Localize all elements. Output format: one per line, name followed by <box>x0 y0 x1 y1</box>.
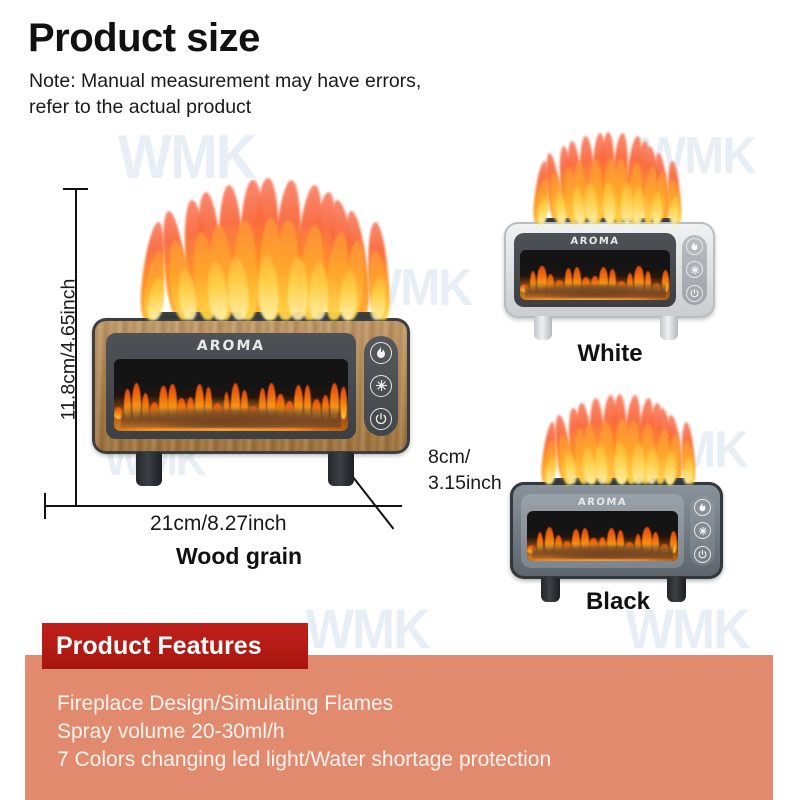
log-bed <box>121 404 341 428</box>
leg-right <box>328 452 354 486</box>
features-list: Fireplace Design/Simulating Flames Spray… <box>57 690 551 774</box>
power-icon[interactable] <box>686 285 703 302</box>
list-item: Fireplace Design/Simulating Flames <box>57 690 551 718</box>
power-icon[interactable] <box>694 546 711 563</box>
features-heading: Product Features <box>56 632 262 661</box>
mist-icon[interactable] <box>686 261 703 278</box>
flame-icon[interactable] <box>694 499 711 516</box>
flame-graphic-white <box>538 132 680 224</box>
measurement-note: Note: Manual measurement may have errors… <box>29 68 549 120</box>
leg-right <box>660 316 678 340</box>
watermark: WMK <box>112 122 261 193</box>
height-dimension-label: 11.8cm/4.65inch <box>58 255 81 445</box>
flame-window-white <box>520 250 670 300</box>
leg-left <box>534 316 552 340</box>
depth-line-1: 8cm/ <box>428 444 502 470</box>
flame-window-black <box>527 511 678 561</box>
leg-left <box>136 452 162 486</box>
depth-line-2: 3.15inch <box>428 470 502 496</box>
list-item: 7 Colors changing led light/Water shorta… <box>57 746 551 774</box>
features-heading-box: Product Features <box>42 623 308 669</box>
height-dimension-tick <box>63 188 88 190</box>
brand-text-white: AROMA <box>514 236 677 247</box>
flame-graphic-black <box>546 394 694 484</box>
width-dimension-tick <box>44 493 46 519</box>
mist-icon[interactable] <box>370 375 392 397</box>
log-bed <box>532 542 674 559</box>
list-item: Spray volume 20-30ml/h <box>57 718 551 746</box>
flame-graphic-main <box>148 178 388 320</box>
flame-icon[interactable] <box>686 238 703 255</box>
product-infographic: WMK WMK WMK WMK WMK WMK WMK Product size… <box>0 0 800 800</box>
watermark: WMK <box>352 258 476 318</box>
product-wood-grain: AROMA <box>92 318 410 454</box>
control-panel-black[interactable] <box>690 496 715 566</box>
note-line-1: Note: Manual measurement may have errors… <box>29 68 549 94</box>
flame-window-wood <box>114 359 348 431</box>
mist-icon[interactable] <box>694 522 711 539</box>
white-variant-label: White <box>540 340 680 368</box>
depth-dimension-label: 8cm/ 3.15inch <box>428 444 502 496</box>
brand-text-black: AROMA <box>521 497 685 508</box>
control-panel-white[interactable] <box>682 235 707 305</box>
log-bed <box>525 281 666 298</box>
note-line-2: refer to the actual product <box>29 94 549 120</box>
product-black: AROMA <box>510 482 723 579</box>
watermark: WMK <box>300 596 434 661</box>
flame-icon[interactable] <box>370 342 392 364</box>
page-title: Product size <box>28 16 260 61</box>
brand-text-wood: AROMA <box>105 338 356 354</box>
control-panel-wood[interactable] <box>364 336 398 436</box>
watermark: WMK <box>628 420 752 480</box>
power-icon[interactable] <box>370 408 392 430</box>
main-variant-label: Wood grain <box>176 543 302 570</box>
watermark: WMK <box>636 126 760 186</box>
product-white: AROMA <box>504 222 715 318</box>
width-dimension-line <box>44 505 402 507</box>
black-variant-label: Black <box>548 588 688 616</box>
width-dimension-label: 21cm/8.27inch <box>150 512 287 536</box>
